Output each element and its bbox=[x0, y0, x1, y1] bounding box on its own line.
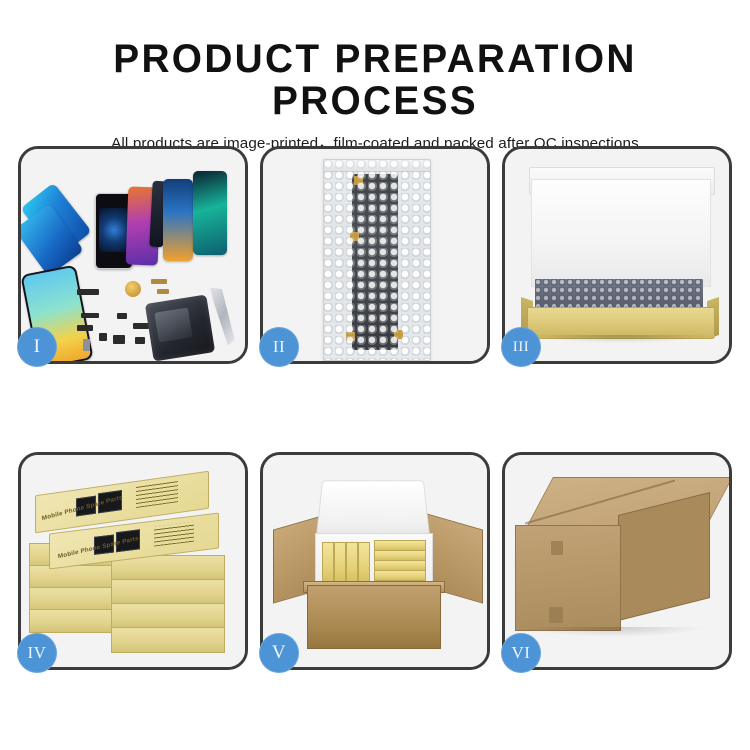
step-badge-5: V bbox=[259, 633, 299, 673]
flex-cable-part-icon bbox=[133, 323, 149, 329]
stacked-box-icon bbox=[111, 603, 225, 629]
stacked-box-icon bbox=[29, 587, 115, 611]
phone-back-housing-icon bbox=[145, 295, 215, 361]
step-badge-3: III bbox=[501, 327, 541, 367]
ribbon-cable-part-icon bbox=[81, 313, 99, 318]
process-step-card-3: III bbox=[502, 146, 732, 364]
bubble-wrapped-units-icon bbox=[535, 279, 703, 309]
step-6-image bbox=[505, 455, 729, 667]
product-preparation-infographic: PRODUCT PREPARATION PROCESS All products… bbox=[0, 0, 750, 750]
flex-cable-part-icon bbox=[77, 289, 99, 295]
teal-gradient-phone-icon bbox=[193, 171, 227, 255]
box-artwork-textlines bbox=[154, 522, 194, 547]
bubble-wrap-bag-icon bbox=[323, 159, 431, 361]
wrapped-screen-assembly-icon bbox=[352, 174, 398, 350]
box-shadow bbox=[535, 335, 707, 343]
yellow-box-icon bbox=[334, 542, 346, 584]
gold-connector-part-icon bbox=[157, 289, 169, 294]
speaker-coil-part-icon bbox=[125, 281, 141, 297]
camera-module-part-icon bbox=[113, 335, 125, 344]
process-step-card-1: I bbox=[18, 146, 248, 364]
process-step-card-2: II bbox=[260, 146, 490, 364]
step-badge-6: VI bbox=[501, 633, 541, 673]
step-badge-2: II bbox=[259, 327, 299, 367]
step-2-image bbox=[263, 149, 487, 361]
step-5-image bbox=[263, 455, 487, 667]
sealed-carton-scene bbox=[505, 455, 729, 667]
foam-sheet-icon bbox=[531, 179, 711, 287]
open-carton-body-icon bbox=[307, 585, 441, 649]
process-step-card-5: V bbox=[260, 452, 490, 670]
gold-flex-tab-icon bbox=[394, 330, 403, 339]
carton-front-face-icon bbox=[515, 525, 621, 631]
retail-box-stack-scene: Mobile Phone Spare Parts Mobile Phone Sp… bbox=[27, 469, 243, 661]
step-badge-4: IV bbox=[17, 633, 57, 673]
stacked-box-icon bbox=[111, 627, 225, 653]
sim-tray-part-icon bbox=[83, 339, 90, 351]
gold-flex-tab-icon bbox=[346, 332, 355, 341]
stacked-box-icon bbox=[29, 609, 115, 633]
page-title: PRODUCT PREPARATION PROCESS bbox=[11, 38, 739, 122]
step-badge-1: I bbox=[17, 327, 57, 367]
gold-connector-part-icon bbox=[151, 279, 167, 284]
inner-box-scene bbox=[505, 149, 729, 361]
process-step-grid: I II bbox=[18, 146, 732, 670]
step-1-image bbox=[21, 149, 245, 361]
carton-tape-icon bbox=[549, 607, 563, 623]
step-3-image bbox=[505, 149, 729, 361]
stacked-box-icon bbox=[111, 579, 225, 605]
carton-side-face-icon bbox=[618, 492, 710, 621]
yellow-box-icon bbox=[374, 570, 426, 581]
carton-shadow bbox=[525, 627, 705, 637]
bag-seal-icon bbox=[324, 160, 430, 172]
bubble-wrap-scene bbox=[263, 149, 487, 361]
page-header: PRODUCT PREPARATION PROCESS All products… bbox=[0, 0, 750, 153]
box-artwork-textlines bbox=[136, 480, 178, 508]
carton-loading-scene bbox=[263, 455, 487, 667]
orange-gradient-phone-icon bbox=[163, 179, 193, 261]
small-component-icon bbox=[117, 313, 127, 319]
phones-and-parts-scene bbox=[21, 149, 245, 361]
gold-flex-tab-icon bbox=[354, 176, 363, 185]
gold-flex-tab-icon bbox=[350, 232, 359, 241]
process-step-card-6: VI bbox=[502, 452, 732, 670]
small-component-icon bbox=[135, 337, 145, 344]
process-step-card-4: Mobile Phone Spare Parts Mobile Phone Sp… bbox=[18, 452, 248, 670]
yellow-box-icon bbox=[322, 542, 334, 584]
small-component-icon bbox=[77, 325, 93, 331]
step-4-image: Mobile Phone Spare Parts Mobile Phone Sp… bbox=[21, 455, 245, 667]
carton-tape-icon bbox=[551, 541, 563, 555]
yellow-box-icon bbox=[346, 542, 358, 584]
yellow-box-icon bbox=[358, 542, 370, 584]
small-component-icon bbox=[99, 333, 107, 341]
stacked-box-icon bbox=[29, 565, 115, 589]
